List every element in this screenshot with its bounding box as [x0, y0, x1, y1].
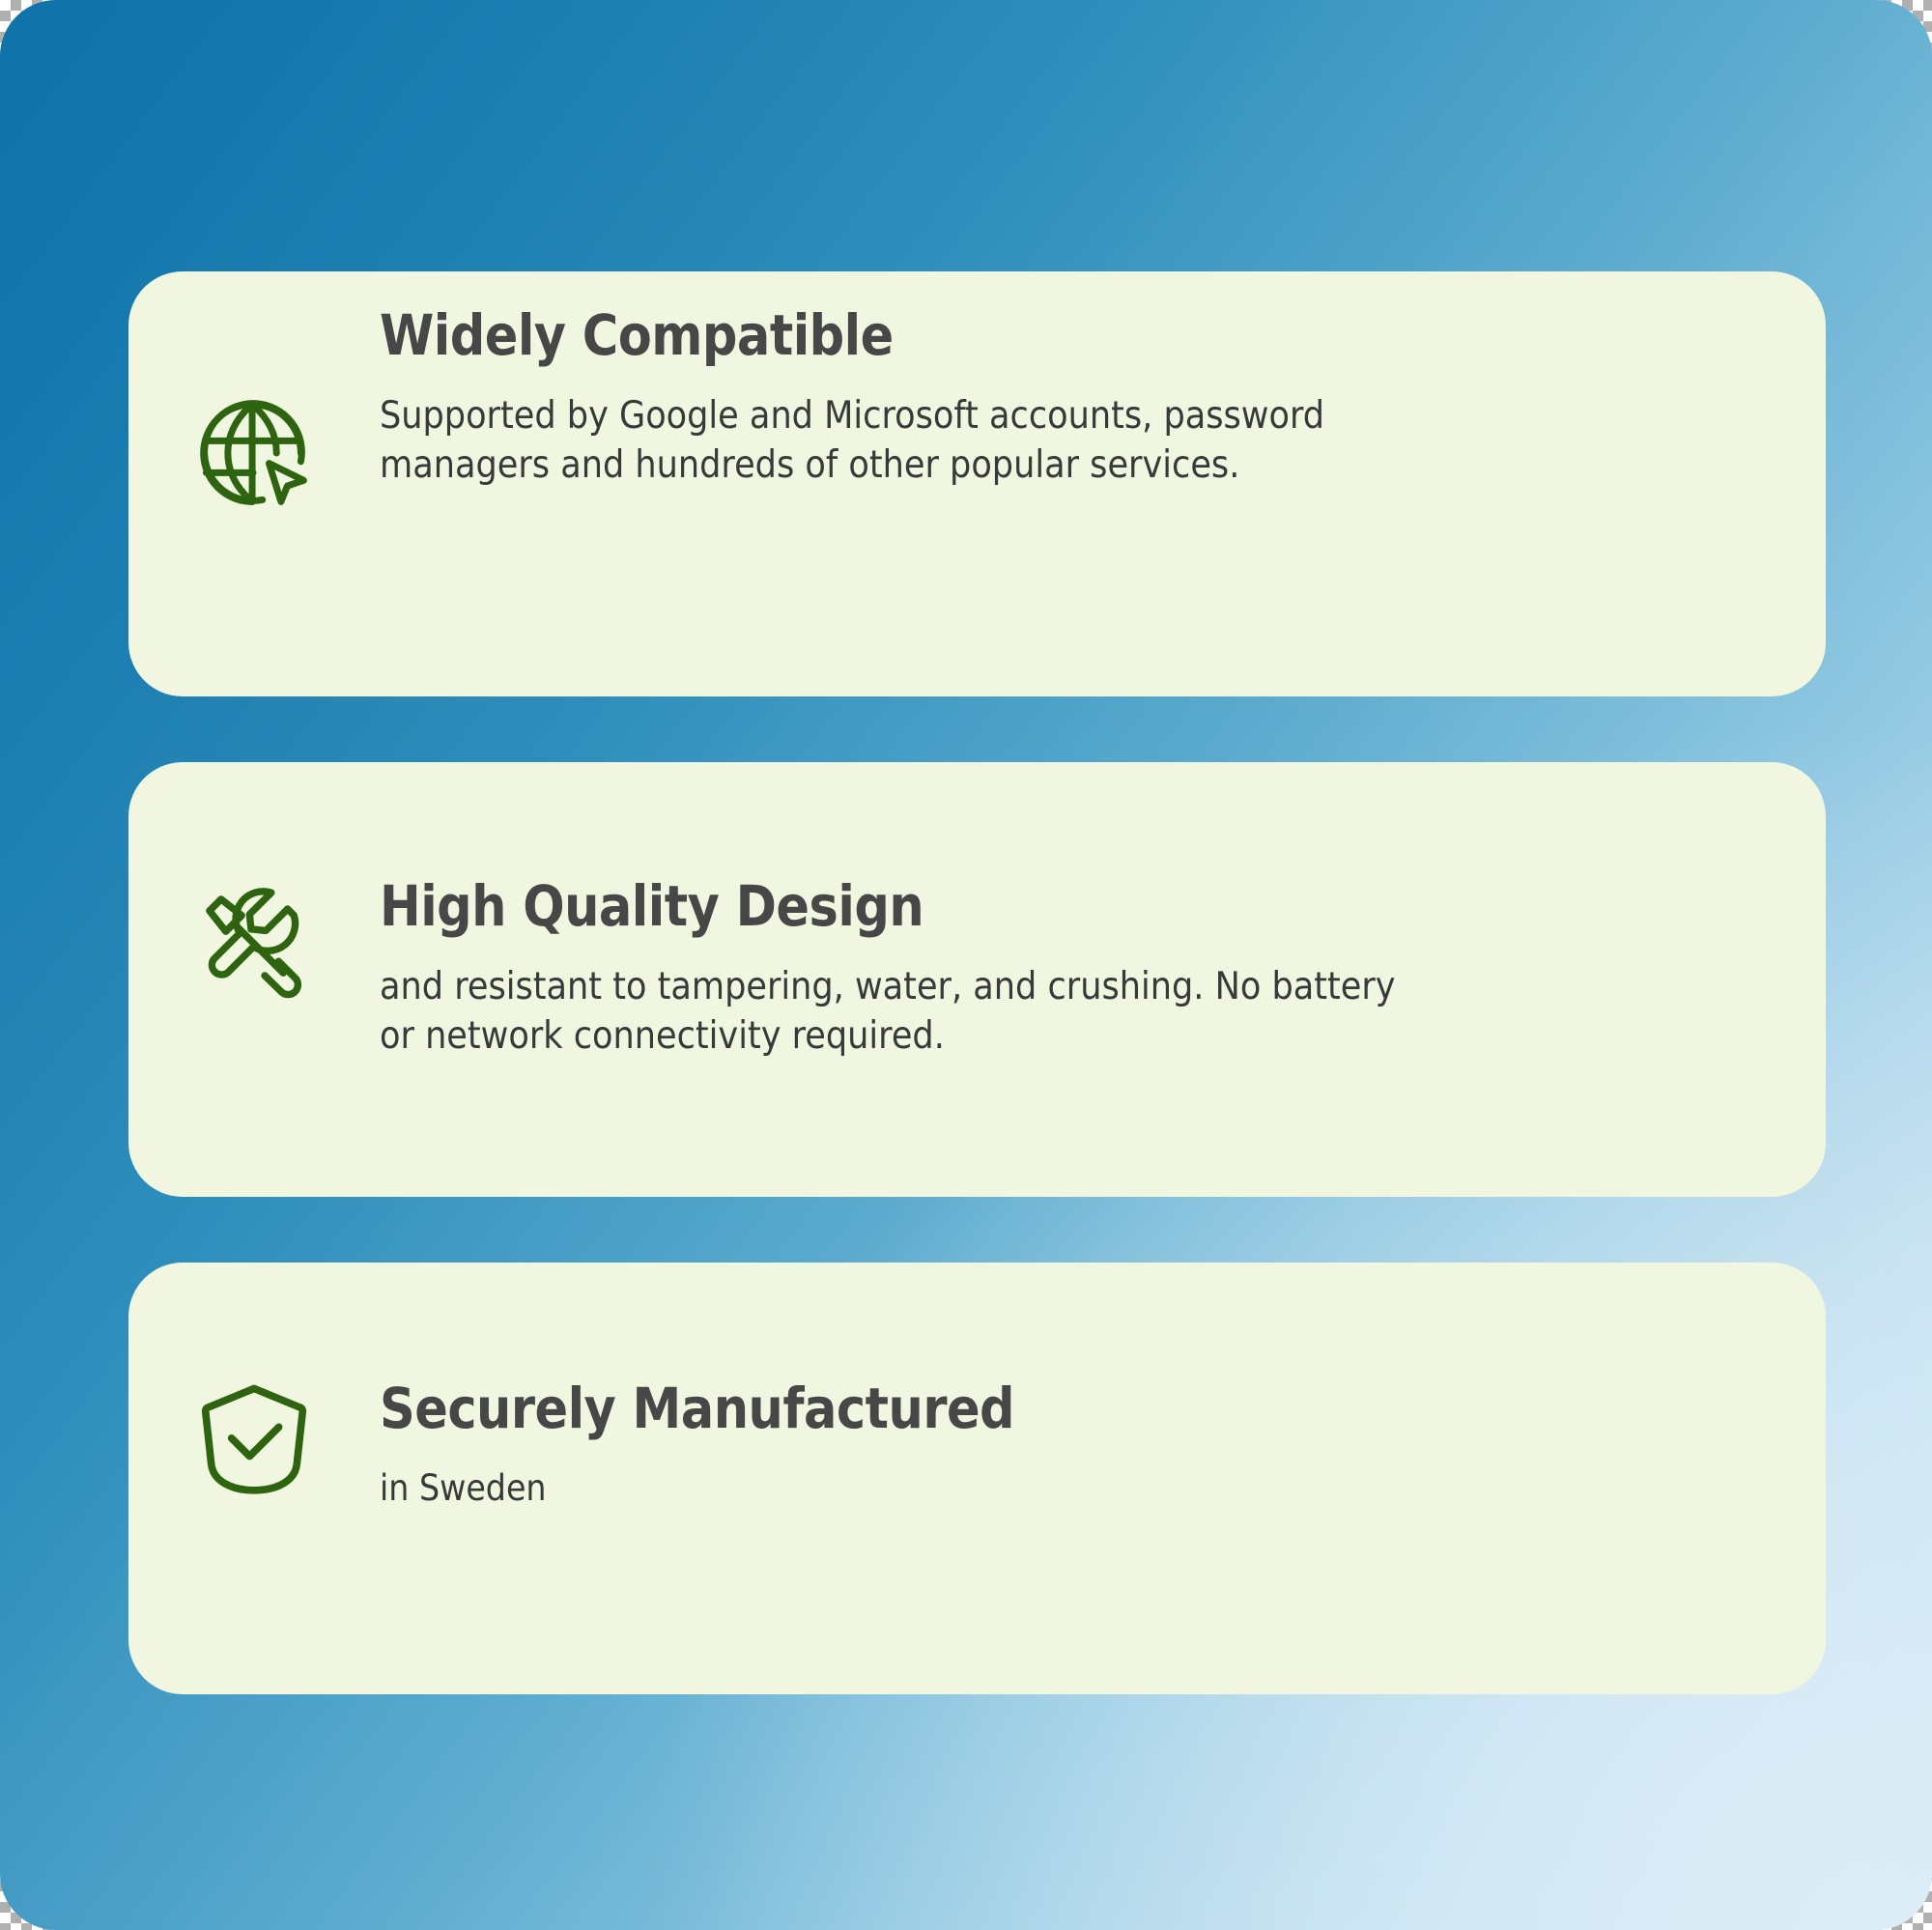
feature-card-widely-compatible[interactable]: Widely Compatible Supported by Google an… [128, 271, 1826, 696]
feature-card-text: High Quality Design and resistant to tam… [380, 762, 1826, 1062]
feature-card-text: Securely Manufactured in Sweden [380, 1263, 1826, 1512]
globe-cursor-icon [194, 393, 314, 513]
feature-card-icon-slot [128, 1263, 380, 1502]
card-body: and resistant to tampering, water, and c… [380, 962, 1414, 1063]
stage: Widely Compatible Supported by Google an… [0, 0, 1932, 1930]
card-body: Supported by Google and Microsoft accoun… [380, 391, 1414, 492]
feature-card-icon-slot [128, 271, 380, 513]
feature-card-list: Widely Compatible Supported by Google an… [128, 271, 1826, 1694]
feature-card-icon-slot [128, 762, 380, 1004]
shield-check-icon [194, 1377, 314, 1502]
feature-card-securely-manufactured[interactable]: Securely Manufactured in Sweden [128, 1263, 1826, 1694]
card-title: Securely Manufactured [380, 1378, 1550, 1439]
card-title: High Quality Design [380, 876, 1550, 937]
feature-highlights-panel: Widely Compatible Supported by Google an… [0, 0, 1932, 1930]
wrench-screwdriver-icon [194, 884, 314, 1004]
card-body: in Sweden [380, 1464, 1414, 1512]
feature-card-text: Widely Compatible Supported by Google an… [380, 271, 1826, 491]
feature-card-high-quality-design[interactable]: High Quality Design and resistant to tam… [128, 762, 1826, 1197]
card-title: Widely Compatible [380, 305, 1550, 366]
